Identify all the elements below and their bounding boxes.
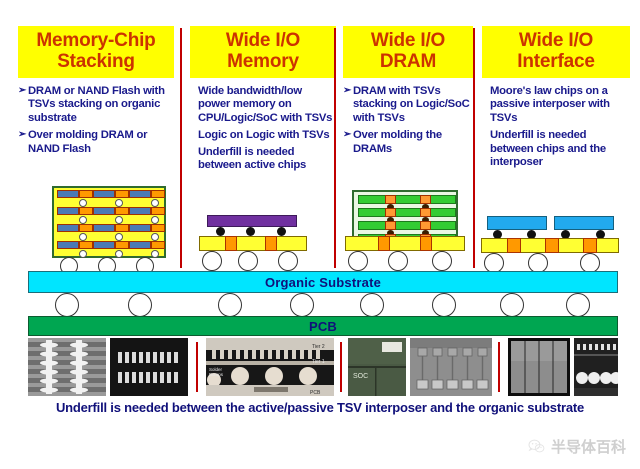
bga-ball: [360, 293, 384, 317]
solder-ball: [580, 253, 600, 273]
die-segment: [93, 224, 115, 232]
microbump: [115, 216, 123, 224]
column-2-title: Wide I/O Memory: [190, 26, 336, 78]
dram-layer: [358, 208, 386, 217]
bullet-marker-icon: ➢: [343, 129, 353, 142]
microbump: [151, 250, 159, 258]
microbump: [79, 216, 87, 224]
watermark-text: 半导体百科: [551, 436, 626, 457]
column-2-title-line1: Wide I/O: [192, 30, 334, 51]
tsv-via: [420, 236, 432, 251]
bullet-item: ➢ Over molding the DRAMs: [343, 129, 473, 157]
micrograph-die-photo: SOC: [348, 338, 406, 396]
bottom-caption: Underfill is needed between the active/p…: [0, 400, 640, 415]
bga-ball: [218, 293, 242, 317]
tsv-via: [545, 238, 559, 253]
microbump: [115, 250, 123, 258]
stack-layer: [57, 207, 161, 215]
microbump: [79, 250, 87, 258]
svg-text:Tier 2: Tier 2: [312, 344, 325, 350]
column-2-title-line2: Memory: [192, 51, 334, 72]
column-divider-2: [334, 28, 336, 268]
tsv-via: [583, 238, 597, 253]
bga-ball: [55, 293, 79, 317]
column-divider-3: [473, 28, 475, 268]
microbump: [115, 199, 123, 207]
tsv-segment: [151, 224, 165, 232]
tsv-segment: [115, 207, 129, 215]
tsv-segment: [151, 207, 165, 215]
dram-layer: [395, 221, 423, 230]
solder-ball: [528, 253, 548, 273]
column-3-bullets: ➢ DRAM with TSVs stacking on Logic/SoC w…: [343, 85, 473, 157]
bullet-item: Underfill is needed between chips and th…: [482, 129, 630, 170]
column-3-title: Wide I/O DRAM: [343, 26, 473, 78]
tsv-via: [420, 195, 431, 204]
tsv-via: [385, 208, 396, 217]
tsv-segment: [115, 224, 129, 232]
stack-layer: [57, 224, 161, 232]
column-2-bullets: Wide bandwidth/low power memory on CPU/L…: [190, 85, 336, 174]
bullet-item: Moore's law chips on a passive interpose…: [482, 85, 630, 126]
microbump: [79, 233, 87, 241]
watermark: 半导体百科: [528, 436, 626, 457]
stack-layer: [57, 241, 161, 249]
stack-layer: [57, 190, 161, 198]
microbump: [151, 199, 159, 207]
bullet-marker-icon: ➢: [18, 85, 28, 98]
column-4-title: Wide I/O Interface: [482, 26, 630, 78]
die-segment: [129, 190, 151, 198]
bullet-marker-icon: ➢: [18, 129, 28, 142]
bumps-on-die-sem-image: [574, 338, 618, 396]
tsv-segment: [79, 190, 93, 198]
dram-layer: [395, 208, 423, 217]
svg-text:PCB: PCB: [310, 390, 321, 396]
dram-layer: [430, 195, 456, 204]
tsv-segment: [115, 190, 129, 198]
tsv-segment: [79, 207, 93, 215]
tsv-pillar-sem-image: [28, 338, 106, 396]
microbump: [115, 233, 123, 241]
bump-array-sem-image: [110, 338, 188, 396]
bullet-item: ➢ DRAM with TSVs stacking on Logic/SoC w…: [343, 85, 473, 126]
diagram-root: Memory-Chip Stacking ➢ DRAM or NAND Flas…: [0, 0, 640, 469]
solder-ball: [348, 251, 368, 271]
bullet-text: Over molding the DRAMs: [353, 129, 473, 157]
microbump: [79, 199, 87, 207]
solder-ball: [388, 251, 408, 271]
tsv-via: [385, 221, 396, 230]
logic-die: [199, 236, 307, 251]
organic-substrate-label: Organic Substrate: [265, 275, 381, 290]
tsv-via: [420, 221, 431, 230]
pcb-bar: PCB: [28, 316, 618, 336]
die-segment: [93, 207, 115, 215]
photo-divider-1: [196, 342, 198, 392]
bullet-item: Logic on Logic with TSVs: [190, 129, 336, 143]
dram-layer: [430, 221, 456, 230]
bullet-item: Underfill is needed between active chips: [190, 146, 336, 174]
bga-ball: [128, 293, 152, 317]
tsv-columns-sem-image: [508, 338, 570, 396]
interface-chip: [487, 216, 547, 230]
die-segment: [129, 224, 151, 232]
micrograph-tsv-pillars: [28, 338, 106, 396]
logic-die: [345, 236, 465, 251]
column-3-title-line2: DRAM: [345, 51, 471, 72]
tsv-via: [420, 208, 431, 217]
die-segment: [93, 241, 115, 249]
column-memory-chip-stacking: Memory-Chip Stacking ➢ DRAM or NAND Flas…: [18, 26, 174, 159]
die-segment: [57, 241, 79, 249]
tsv-segment: [151, 241, 165, 249]
solder-ball: [278, 251, 298, 271]
dram-layer: [358, 221, 386, 230]
tsv-via: [385, 195, 396, 204]
bullet-item: ➢ Over molding DRAM or NAND Flash: [18, 129, 174, 157]
column-1-title-line1: Memory-Chip: [20, 30, 172, 51]
tsv-via: [265, 236, 277, 251]
solder-ball: [432, 251, 452, 271]
bullet-text: Underfill is needed between chips and th…: [490, 129, 630, 170]
die-segment: [93, 190, 115, 198]
svg-text:SOC: SOC: [353, 373, 368, 380]
die-segment: [129, 207, 151, 215]
column-divider-1: [180, 28, 182, 268]
wide-io-memory-die: [207, 215, 297, 227]
bullet-item: ➢ DRAM or NAND Flash with TSVs stacking …: [18, 85, 174, 126]
bullet-text: Moore's law chips on a passive interpose…: [490, 85, 630, 126]
solder-ball: [202, 251, 222, 271]
bullet-text: Wide bandwidth/low power memory on CPU/L…: [198, 85, 336, 126]
solder-ball: [238, 251, 258, 271]
pcb-label: PCB: [309, 319, 337, 334]
column-4-title-line2: Interface: [484, 51, 628, 72]
dram-layer: [430, 208, 456, 217]
organic-substrate-bar: Organic Substrate: [28, 271, 618, 293]
column-3-title-line1: Wide I/O: [345, 30, 471, 51]
tsv-via: [378, 236, 390, 251]
bga-ball: [566, 293, 590, 317]
die-segment: [57, 190, 79, 198]
column-4-title-line1: Wide I/O: [484, 30, 628, 51]
microbump: [151, 216, 159, 224]
bga-ball: [290, 293, 314, 317]
column-4-bullets: Moore's law chips on a passive interpose…: [482, 85, 630, 171]
cross-section-sem-image: Tier 2 Tier 1 Solder Bumps PCB: [206, 338, 334, 396]
column-1-bullets: ➢ DRAM or NAND Flash with TSVs stacking …: [18, 85, 174, 157]
interface-chip: [554, 216, 614, 230]
die-segment: [57, 224, 79, 232]
photo-divider-3: [498, 342, 500, 392]
micrograph-bump-array: [110, 338, 188, 396]
micrograph-tsv-columns: [508, 338, 570, 396]
die-segment: [57, 207, 79, 215]
micrograph-tsv-array: [410, 338, 492, 396]
bullet-text: Over molding DRAM or NAND Flash: [28, 129, 174, 157]
tsv-via: [225, 236, 237, 251]
die-optical-image: SOC: [348, 338, 406, 396]
svg-text:Tier 1: Tier 1: [312, 359, 325, 365]
bullet-item: Wide bandwidth/low power memory on CPU/L…: [190, 85, 336, 126]
memory-chip-stack: [52, 186, 166, 258]
tsv-segment: [151, 190, 165, 198]
tsv-via: [507, 238, 521, 253]
die-segment: [129, 241, 151, 249]
micrograph-strip: Tier 2 Tier 1 Solder Bumps PCB SOC: [0, 338, 640, 396]
microbump: [246, 227, 255, 236]
tsv-segment: [79, 241, 93, 249]
micrograph-cross-section: Tier 2 Tier 1 Solder Bumps PCB: [206, 338, 334, 396]
dram-layer: [395, 195, 423, 204]
tsv-array-sem-image: [410, 338, 492, 396]
microbump: [277, 227, 286, 236]
wechat-icon: [528, 439, 545, 454]
column-wide-io-dram: Wide I/O DRAM ➢ DRAM with TSVs stacking …: [343, 26, 473, 159]
bullet-text: Logic on Logic with TSVs: [198, 129, 336, 143]
svg-text:Bumps: Bumps: [209, 372, 224, 377]
column-wide-io-memory: Wide I/O Memory Wide bandwidth/low power…: [190, 26, 336, 176]
microbump: [216, 227, 225, 236]
bullet-marker-icon: ➢: [343, 85, 353, 98]
column-1-title: Memory-Chip Stacking: [18, 26, 174, 78]
solder-ball: [484, 253, 504, 273]
tsv-segment: [79, 224, 93, 232]
bga-ball: [500, 293, 524, 317]
bullet-text: DRAM or NAND Flash with TSVs stacking on…: [28, 85, 174, 126]
micrograph-bumps-on-die: [574, 338, 618, 396]
dram-layer: [358, 195, 386, 204]
bullet-text: DRAM with TSVs stacking on Logic/SoC wit…: [353, 85, 473, 126]
column-1-title-line2: Stacking: [20, 51, 172, 72]
microbump: [151, 233, 159, 241]
bullet-text: Underfill is needed between active chips: [198, 146, 336, 174]
column-wide-io-interface: Wide I/O Interface Moore's law chips on …: [482, 26, 630, 173]
photo-divider-2: [340, 342, 342, 392]
tsv-segment: [115, 241, 129, 249]
bga-ball: [432, 293, 456, 317]
